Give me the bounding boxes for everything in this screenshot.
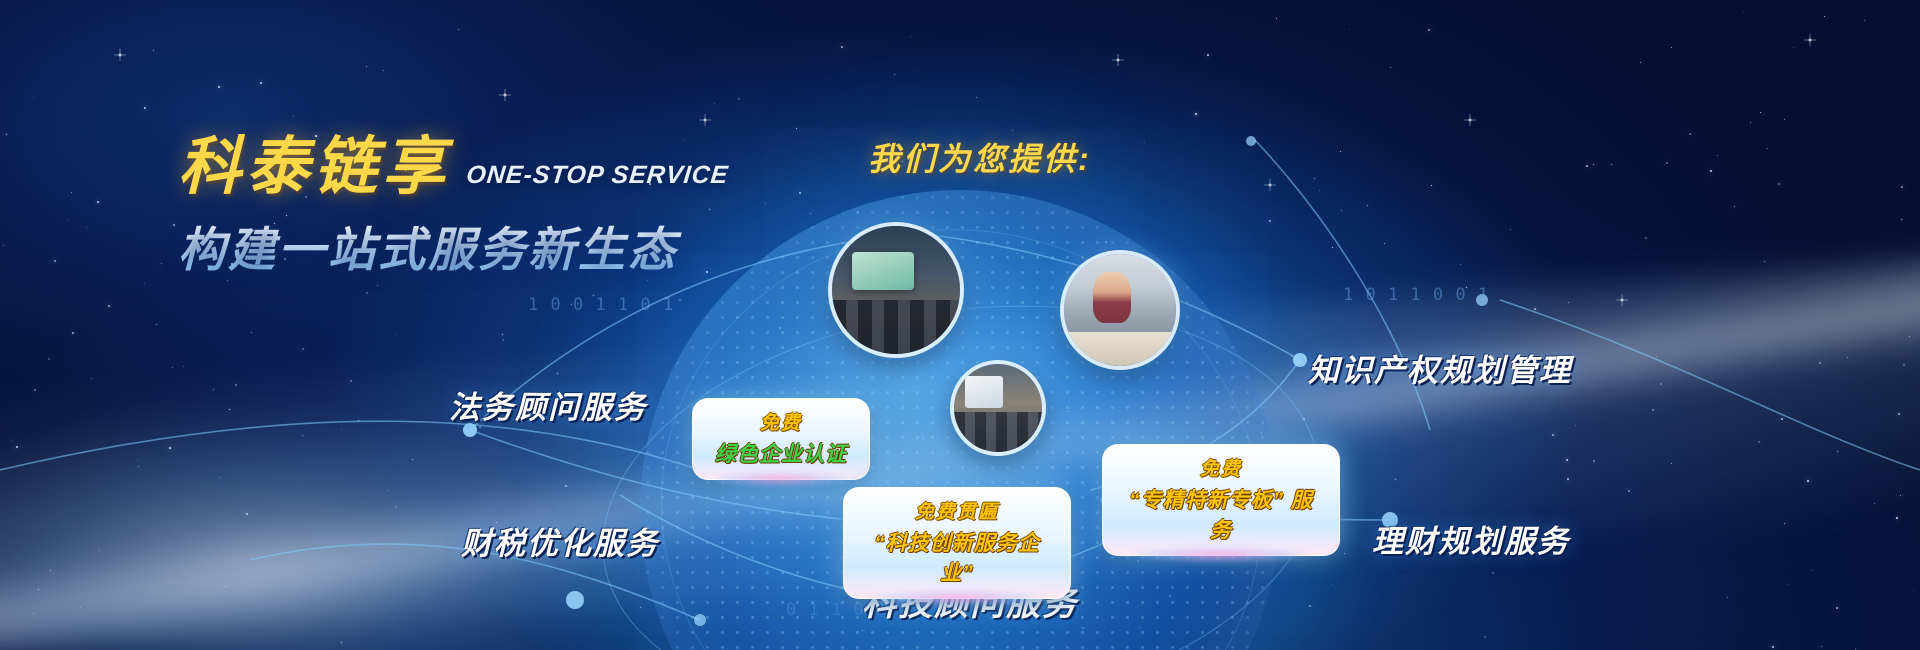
badge-tech-plaque: 免费贯匾 “科技创新服务企业” xyxy=(843,487,1071,599)
binary-column-right: 1 0 1 1 0 0 1 xyxy=(1343,285,1489,306)
binary-column-left: 1 0 0 1 1 0 1 xyxy=(528,295,674,316)
badge-sme-board-line1: 免费 xyxy=(1123,454,1319,481)
badge-sme-board: 免费 “专精特新专板” 服务 xyxy=(1102,444,1340,556)
badge-green-cert: 免费 绿色企业认证 xyxy=(692,398,870,480)
photo-meeting-room xyxy=(950,360,1046,456)
headline-block: 科泰链享 ONE-STOP SERVICE 构建一站式服务新生态 xyxy=(178,136,728,280)
brand-title: 科泰链享 xyxy=(178,136,450,199)
photo-seminar-room-image xyxy=(832,226,960,354)
provide-heading: 我们为您提供: xyxy=(868,134,1092,180)
service-label-legal: 法务顾问服务 xyxy=(449,382,647,427)
photo-office-desk xyxy=(1060,250,1180,370)
photo-office-desk-image xyxy=(1064,254,1176,366)
badge-green-cert-line2: 绿色企业认证 xyxy=(713,438,849,468)
badge-tech-plaque-line2: “科技创新服务企业” xyxy=(864,527,1050,587)
badge-tech-plaque-line1: 免费贯匾 xyxy=(864,497,1050,524)
photo-seminar-room xyxy=(828,222,964,358)
photo-meeting-room-image xyxy=(954,364,1042,452)
brand-subtitle: 构建一站式服务新生态 xyxy=(178,211,728,280)
brand-tagline-en: ONE-STOP SERVICE xyxy=(464,161,730,199)
service-label-ip: 知识产权规划管理 xyxy=(1308,345,1572,390)
promo-banner: 1 0 0 1 1 0 1 1 0 1 1 0 0 1 0 1 1 0 1 0 … xyxy=(0,0,1920,650)
service-label-wealth: 理财规划服务 xyxy=(1372,516,1570,561)
badge-sme-board-line2: “专精特新专板” 服务 xyxy=(1123,484,1319,544)
service-label-tax: 财税优化服务 xyxy=(461,518,659,563)
badge-green-cert-line1: 免费 xyxy=(713,408,849,435)
